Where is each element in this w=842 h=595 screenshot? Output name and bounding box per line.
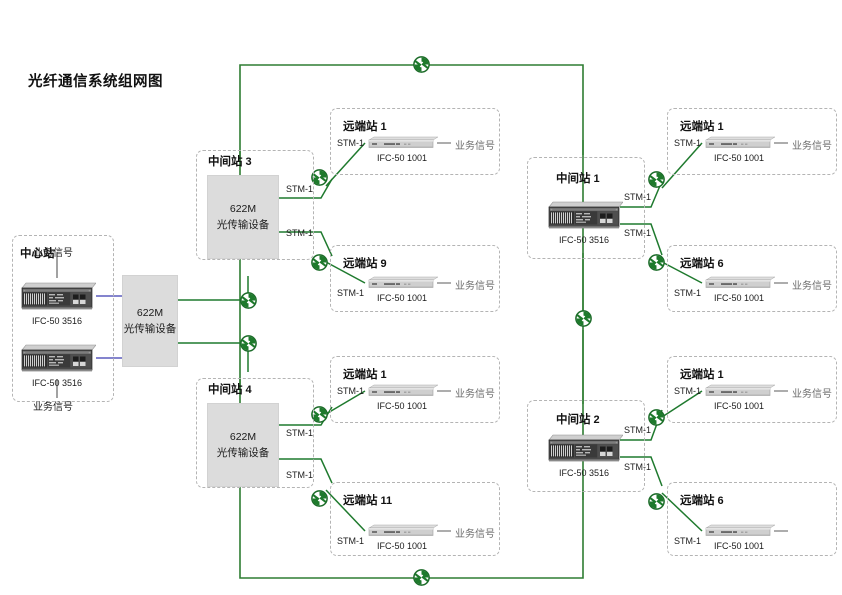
int2-stm-label-1: STM-1 (624, 425, 651, 435)
fiber-ring-node-icon[interactable] (414, 57, 429, 72)
remote-device-model: IFC-50 1001 (366, 153, 438, 163)
remote-station-label: 远端站6 (680, 255, 724, 271)
remote-station-label: 远端站1 (680, 118, 724, 134)
fiber-ring-node-icon[interactable] (312, 491, 327, 506)
remote-device-model: IFC-50 1001 (366, 293, 438, 303)
fiber-ring-node-icon[interactable] (576, 311, 591, 326)
int3-stm-label-2: STM-1 (286, 228, 313, 238)
remote-station-label: 远端站1 (343, 366, 387, 382)
remote-station-label: 远端站11 (343, 492, 392, 508)
remote-device-model: IFC-50 1001 (366, 401, 438, 411)
remote-station-label: 远端站1 (680, 366, 724, 382)
intermediate-station-2-label: 中间站2 (556, 411, 600, 427)
int3-stm-label-1: STM-1 (286, 184, 313, 194)
center-opt-type: 光传输设备 (124, 321, 177, 337)
remote-service-label: 业务信号 (455, 277, 495, 292)
remote-device-model: IFC-50 1001 (366, 541, 438, 551)
remote-device-model: IFC-50 1001 (703, 401, 775, 411)
fiber-ring-node-icon[interactable] (649, 172, 664, 187)
int3-opt-type: 光传输设备 (217, 217, 270, 233)
int1-stm-label-2: STM-1 (624, 228, 651, 238)
center-to-ring-links (176, 300, 241, 343)
int2-device-model: IFC-50 3516 (545, 468, 623, 478)
int4-optical-transport-box[interactable]: 622M 光传输设备 (207, 403, 279, 487)
remote-device-model: IFC-50 1001 (703, 293, 775, 303)
remote-device-model: IFC-50 1001 (703, 153, 775, 163)
intermediate-station-1-label: 中间站1 (556, 170, 600, 186)
fiber-ring-node-icon[interactable] (649, 255, 664, 270)
remote-station-label: 远端站9 (343, 255, 387, 271)
center-opt-capacity: 622M (137, 305, 163, 321)
fiber-ring-node-icon[interactable] (649, 494, 664, 509)
remote-stm-label: STM-1 (337, 288, 364, 298)
diagram-title: 光纤通信系统组网图 (28, 70, 163, 91)
remote-stm-label: STM-1 (674, 288, 701, 298)
remote-service-label: 业务信号 (792, 137, 832, 152)
fiber-ring-node-icon[interactable] (414, 570, 429, 585)
center-bottom-service-label: 业务信号 (33, 398, 73, 413)
int4-stm-label-2: STM-1 (286, 470, 313, 480)
center-device-top-model: IFC-50 3516 (18, 316, 96, 326)
intermediate-station-3-label: 中间站3 (208, 153, 252, 169)
fiber-ring-node-icon[interactable] (312, 170, 327, 185)
remote-station-label: 远端站1 (343, 118, 387, 134)
int4-stm-label-1: STM-1 (286, 428, 313, 438)
center-top-service-label: 业务信号 (33, 244, 73, 259)
fiber-ring-node-icon[interactable] (241, 293, 256, 308)
intermediate-station-4-label: 中间站4 (208, 381, 252, 397)
remote-service-label: 业务信号 (455, 525, 495, 540)
int3-optical-transport-box[interactable]: 622M 光传输设备 (207, 175, 279, 259)
int2-stm-label-2: STM-1 (624, 462, 651, 472)
remote-stm-label: STM-1 (674, 386, 701, 396)
network-diagram-canvas: 光纤通信系统组网图 中心站 业务信号 IFC-50 3516 IFC-50 35… (0, 0, 842, 595)
int1-device-model: IFC-50 3516 (545, 235, 623, 245)
fiber-ring-node-icon[interactable] (312, 255, 327, 270)
remote-service-label: 业务信号 (792, 277, 832, 292)
remote-stm-label: STM-1 (674, 536, 701, 546)
remote-stm-label: STM-1 (337, 536, 364, 546)
remote-stm-label: STM-1 (337, 138, 364, 148)
remote-stm-label: STM-1 (337, 386, 364, 396)
remote-station-label: 远端站6 (680, 492, 724, 508)
remote-device-model: IFC-50 1001 (703, 541, 775, 551)
int1-stm-label-1: STM-1 (624, 192, 651, 202)
fiber-ring-node-icon[interactable] (312, 407, 327, 422)
remote-service-label: 业务信号 (455, 385, 495, 400)
remote-stm-label: STM-1 (674, 138, 701, 148)
remote-service-label: 业务信号 (792, 385, 832, 400)
int4-opt-type: 光传输设备 (217, 445, 270, 461)
fiber-ring-node-icon[interactable] (649, 410, 664, 425)
int4-opt-capacity: 622M (230, 429, 256, 445)
remote-service-label: 业务信号 (455, 137, 495, 152)
int3-opt-capacity: 622M (230, 201, 256, 217)
center-device-bottom-model: IFC-50 3516 (18, 378, 96, 388)
fiber-ring-node-icon[interactable] (241, 336, 256, 351)
center-optical-transport-box[interactable]: 622M 光传输设备 (122, 275, 178, 367)
